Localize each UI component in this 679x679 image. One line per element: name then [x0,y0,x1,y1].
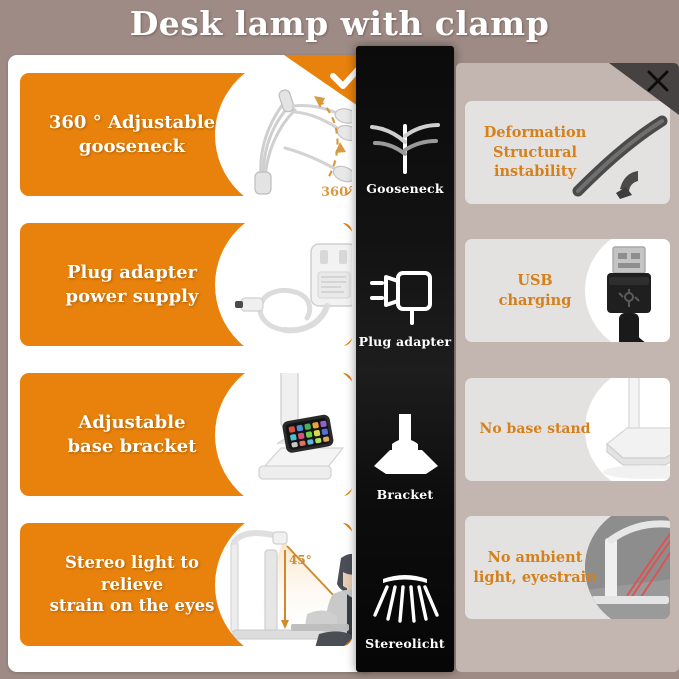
pro-panel: 360° 360 ° Adjustable gooseneck [8,55,374,672]
pro-card-stereo-light: 45° Stereo light to relieve strain [20,523,352,646]
adapter-illustration [215,223,352,346]
bracket-icon [366,414,444,480]
con-card-usb-charging: USB charging [465,239,670,342]
cross-icon [645,68,671,94]
con-card-label: No base stand [471,378,599,481]
pro-card-label: Adjustable base bracket [34,373,230,496]
feature-item-stereolicht: Stereolicht [356,563,454,651]
plug-adapter-icon [368,261,442,327]
svg-text:360°: 360° [321,185,352,196]
gooseneck-icon [366,108,444,174]
pro-card-label: Stereo light to relieve strain on the ey… [34,523,230,646]
pro-card-gooseneck: 360° 360 ° Adjustable gooseneck [20,73,352,196]
infographic-canvas: Desk lamp with clamp [0,0,679,679]
page-title: Desk lamp with clamp [0,0,679,46]
con-panel: Deformation Structural instability [456,63,679,672]
con-card-deformation: Deformation Structural instability [465,101,670,204]
con-card-label: Deformation Structural instability [471,101,599,204]
con-badge [609,63,679,115]
pro-card-plug-adapter: Plug adapter power supply [20,223,352,346]
base-bracket-illustration [215,373,352,496]
feature-label: Bracket [377,487,434,502]
pro-card-base-bracket: Adjustable base bracket [20,373,352,496]
svg-text:45°: 45° [289,553,312,567]
feature-label: Plug adapter [359,334,452,349]
feature-item-gooseneck: Gooseneck [356,108,454,196]
con-card-label: No ambient light, eyestrain [471,516,599,619]
con-card-label: USB charging [471,239,599,342]
pro-card-label: 360 ° Adjustable gooseneck [34,73,230,196]
con-card-no-ambient-light: No ambient light, eyestrain [465,516,670,619]
gooseneck-illustration: 360° [215,73,352,196]
feature-column: Gooseneck Plug adapter [356,46,454,672]
feature-label: Gooseneck [366,181,443,196]
feature-item-bracket: Bracket [356,414,454,502]
pro-card-label: Plug adapter power supply [34,223,230,346]
eye-strain-illustration: 45° [215,523,352,646]
feature-label: Stereolicht [365,636,445,651]
feature-item-plug-adapter: Plug adapter [356,261,454,349]
con-card-no-base-stand: No base stand [465,378,670,481]
light-rays-icon [367,563,443,629]
